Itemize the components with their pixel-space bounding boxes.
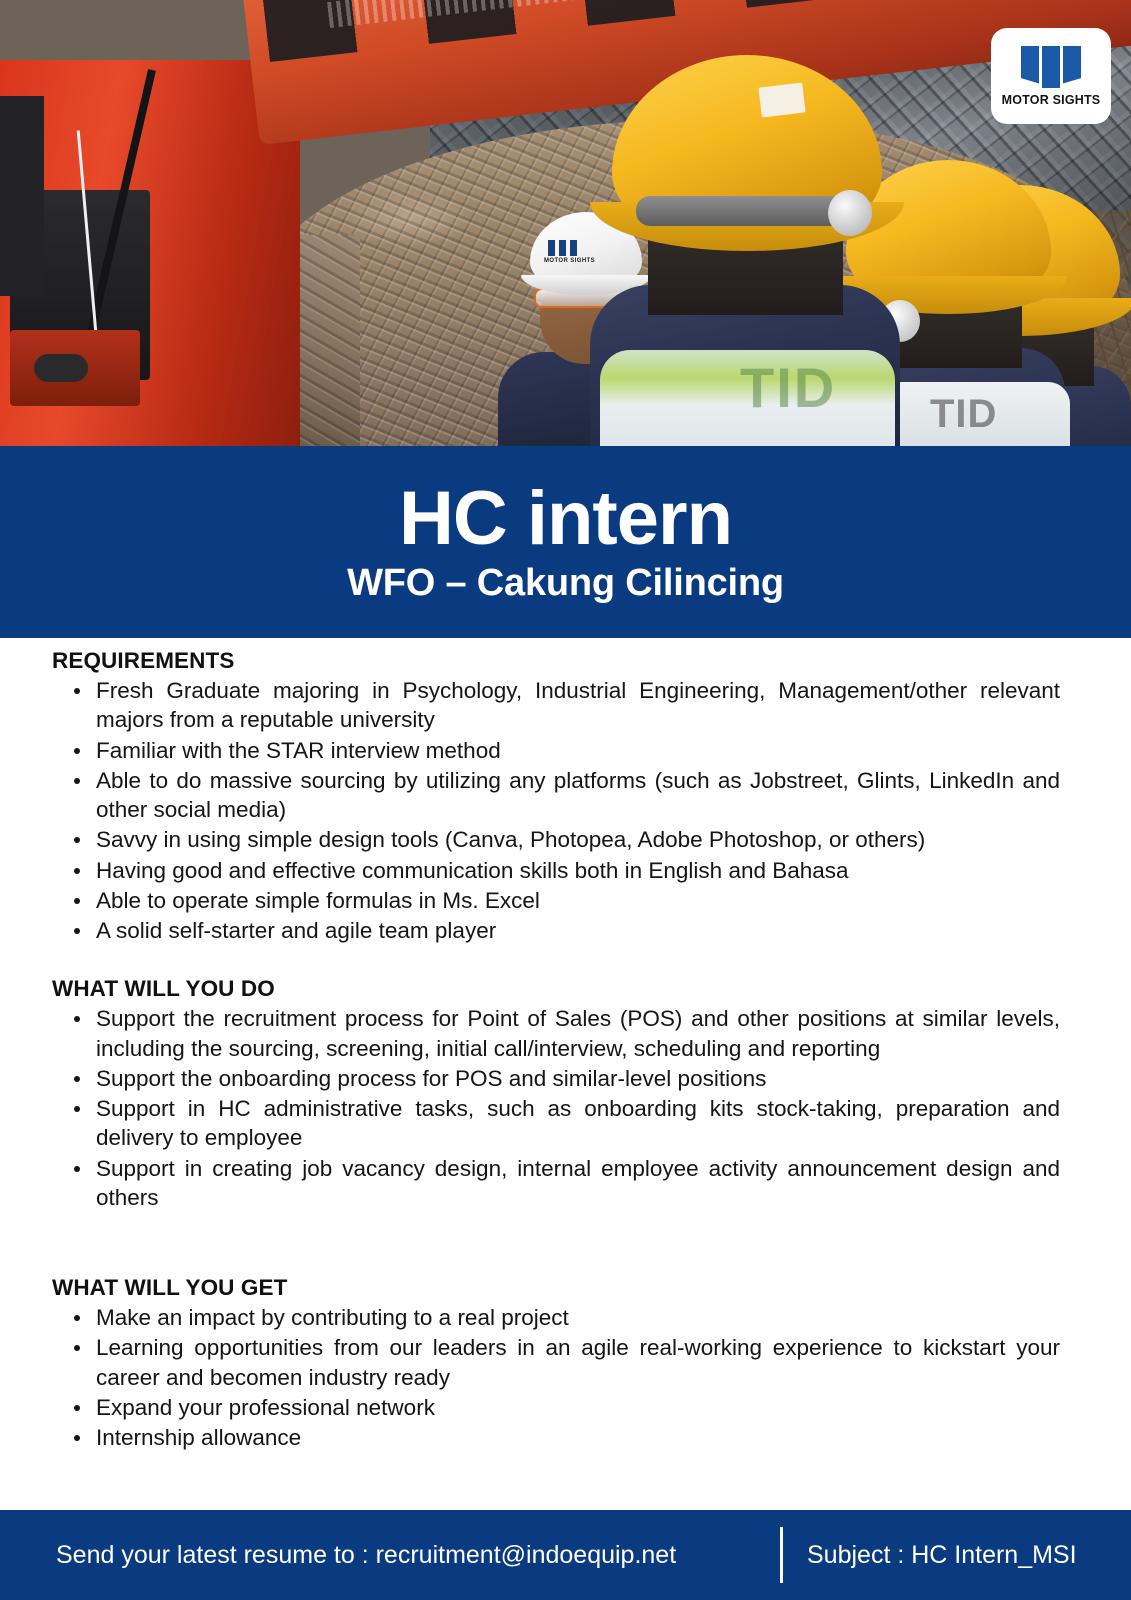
worker-foreground-vest-text: TID bbox=[740, 355, 836, 420]
job-poster: MOTOR SIGHTS TID TID bbox=[0, 0, 1131, 1600]
hero-scene: MOTOR SIGHTS TID TID bbox=[0, 0, 1131, 446]
list-item: Familiar with the STAR interview method bbox=[52, 736, 1060, 765]
section-heading-requirements: REQUIREMENTS bbox=[52, 648, 1060, 674]
section-spacer-large bbox=[52, 1213, 1060, 1275]
logo-panel-left bbox=[1021, 46, 1039, 84]
excavator-hydraulic-block bbox=[10, 330, 140, 406]
worker-mid-right-vest-text: TID bbox=[930, 392, 997, 437]
job-details: REQUIREMENTS Fresh Graduate majoring in … bbox=[0, 638, 1131, 1510]
list-item: Support in creating job vacancy design, … bbox=[52, 1154, 1060, 1213]
hard-hat-sticker bbox=[758, 82, 805, 117]
email-subject-instruction: Subject : HC Intern_MSI bbox=[783, 1541, 1131, 1570]
list-item: Learning opportunities from our leaders … bbox=[52, 1333, 1060, 1392]
resume-email-instruction: Send your latest resume to : recruitment… bbox=[0, 1541, 780, 1570]
motor-sights-logo-icon bbox=[1021, 46, 1081, 88]
list-item: Able to operate simple formulas in Ms. E… bbox=[52, 886, 1060, 915]
list-item: Expand your professional network bbox=[52, 1393, 1060, 1422]
list-item: Having good and effective communication … bbox=[52, 856, 1060, 885]
list-item: Internship allowance bbox=[52, 1423, 1060, 1452]
responsibilities-list: Support the recruitment process for Poin… bbox=[52, 1004, 1060, 1212]
company-name: MOTOR SIGHTS bbox=[1002, 93, 1101, 107]
list-item: Make an impact by contributing to a real… bbox=[52, 1303, 1060, 1332]
footer-band: Send your latest resume to : recruitment… bbox=[0, 1510, 1131, 1600]
list-item: Able to do massive sourcing by utilizing… bbox=[52, 766, 1060, 825]
job-location: WFO – Cakung Cilincing bbox=[347, 564, 784, 604]
job-title: HC intern bbox=[399, 480, 732, 558]
logo-panel-middle bbox=[1042, 46, 1060, 88]
helmet-logo-mark bbox=[548, 240, 578, 256]
list-item: A solid self-starter and agile team play… bbox=[52, 916, 1060, 945]
list-item: Savvy in using simple design tools (Canv… bbox=[52, 825, 1060, 854]
title-band: HC intern WFO – Cakung Cilincing bbox=[0, 446, 1131, 638]
benefits-list: Make an impact by contributing to a real… bbox=[52, 1303, 1060, 1452]
list-item: Fresh Graduate majoring in Psychology, I… bbox=[52, 676, 1060, 735]
list-item: Support in HC administrative tasks, such… bbox=[52, 1094, 1060, 1153]
list-item: Support the onboarding process for POS a… bbox=[52, 1064, 1060, 1093]
section-heading-what-will-you-get: WHAT WILL YOU GET bbox=[52, 1275, 1060, 1301]
helmet-logo-text: MOTOR SIGHTS bbox=[544, 258, 595, 264]
hard-hat-chin-strap bbox=[636, 196, 856, 226]
logo-panel-right bbox=[1063, 46, 1081, 84]
list-item: Support the recruitment process for Poin… bbox=[52, 1004, 1060, 1063]
excavator-dark-panel bbox=[0, 96, 44, 296]
ear-protection-icon bbox=[828, 190, 872, 236]
hero-photo: MOTOR SIGHTS TID TID bbox=[0, 0, 1131, 446]
company-logo-badge: MOTOR SIGHTS bbox=[991, 28, 1111, 124]
requirements-list: Fresh Graduate majoring in Psychology, I… bbox=[52, 676, 1060, 945]
section-spacer bbox=[52, 946, 1060, 976]
section-heading-what-will-you-do: WHAT WILL YOU DO bbox=[52, 976, 1060, 1002]
